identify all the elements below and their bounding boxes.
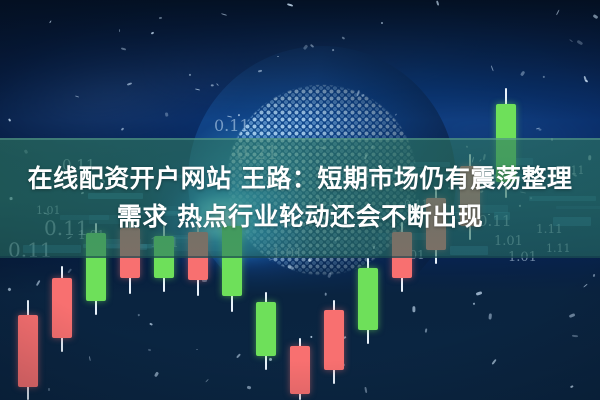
headline-line-2: 需求 热点行业轮动还会不断出现 — [8, 198, 592, 236]
banner-image: 0.110.111.011.011.010.111.010.210.111.01… — [0, 0, 600, 400]
headline: 在线配资开户网站 王路：短期市场仍有震荡整理 需求 热点行业轮动还会不断出现 — [0, 160, 600, 236]
headline-line-1: 在线配资开户网站 王路：短期市场仍有震荡整理 — [8, 160, 592, 198]
